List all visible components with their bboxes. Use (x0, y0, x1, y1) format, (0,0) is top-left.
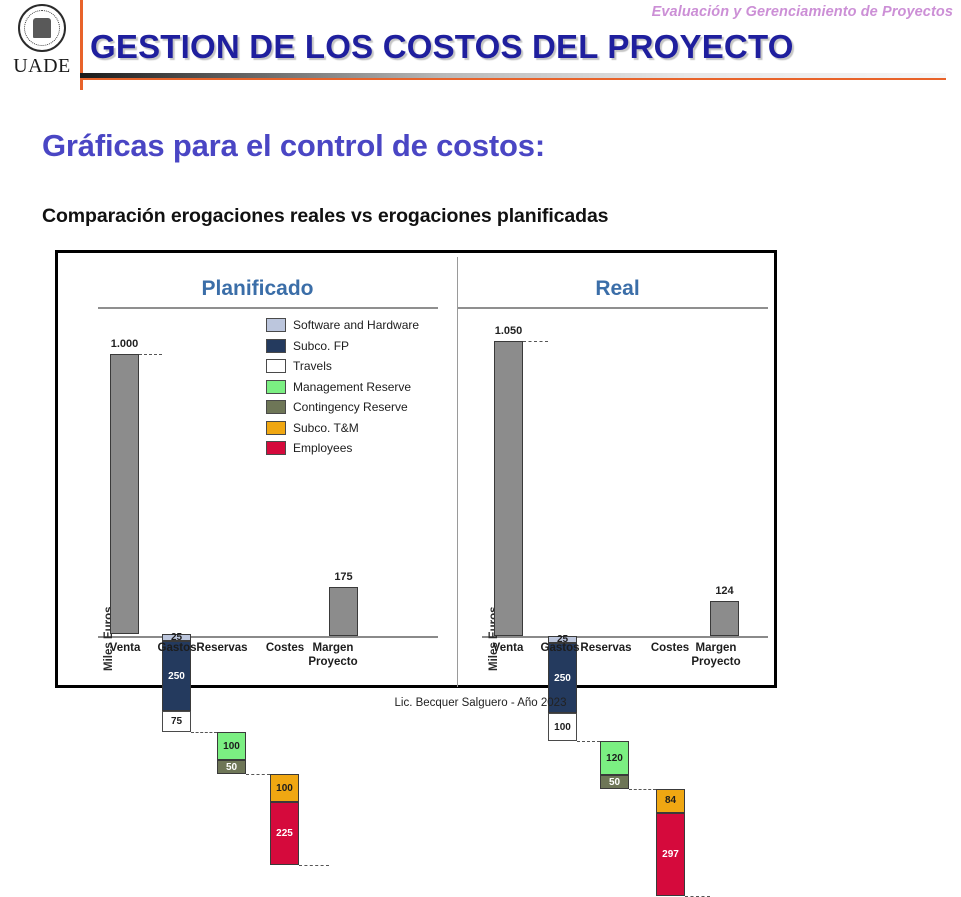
legend-swatch-icon (266, 359, 286, 373)
legend-item: Contingency Reserve (266, 397, 419, 418)
bar-margen-proyecto (710, 601, 739, 636)
bar-segment: 100 (270, 774, 299, 802)
bar-total-label: 124 (700, 585, 749, 597)
bar-segment: 100 (217, 732, 246, 760)
chart-panel-real: RealMiles Euros1.050Venta25250100Gastos1… (458, 253, 777, 685)
legend-swatch-icon (266, 339, 286, 353)
chart-title-rule (98, 307, 438, 309)
bar-venta (110, 354, 139, 634)
uade-logo-text: UADE (13, 55, 71, 78)
waterfall-connector (299, 865, 329, 866)
bar-segment: 75 (162, 711, 191, 732)
bar-segment (110, 354, 139, 634)
chart-title: Real (458, 277, 777, 301)
waterfall-connector (629, 789, 656, 790)
chart-title: Planificado (58, 277, 457, 301)
chart-panel-planificado: PlanificadoMiles Euros1.000Venta2525075G… (58, 253, 457, 685)
header-subtitle: Evaluación y Gerenciamiento de Proyectos (652, 4, 953, 20)
x-axis-line (482, 636, 768, 638)
legend-label: Employees (293, 441, 352, 455)
x-axis-line (98, 636, 438, 638)
x-axis-label: MargenProyecto (303, 641, 363, 669)
legend-label: Subco. T&M (293, 421, 359, 435)
bar-segment: 297 (656, 813, 685, 896)
legend-swatch-icon (266, 421, 286, 435)
legend-item: Travels (266, 356, 419, 377)
bar-segment: 25 (162, 634, 191, 641)
x-axis-label: Reservas (192, 641, 252, 655)
bar-segment: 100 (548, 713, 577, 741)
chart-title-rule (458, 307, 768, 309)
waterfall-connector (523, 341, 548, 342)
slide-subheading: Comparación erogaciones reales vs erogac… (42, 205, 608, 228)
header-accent-rule (80, 78, 946, 80)
bar-costes: 84297 (656, 789, 685, 896)
bar-segment: 120 (600, 741, 629, 775)
bar-margen-proyecto (329, 587, 358, 636)
bar-total-label: 1.050 (484, 325, 533, 337)
page-title: GESTION DE LOS COSTOS DEL PROYECTO (90, 28, 794, 66)
x-axis-label: Reservas (576, 641, 636, 655)
seal-emblem-icon (33, 18, 51, 38)
legend-item: Employees (266, 438, 419, 459)
waterfall-connector (577, 741, 600, 742)
bar-segment: 50 (600, 775, 629, 789)
bar-segment (494, 341, 523, 636)
legend-item: Subco. T&M (266, 418, 419, 439)
legend-label: Management Reserve (293, 380, 411, 394)
slide-footer: Lic. Becquer Salguero - Año 2023 (0, 697, 961, 709)
legend-item: Software and Hardware (266, 315, 419, 336)
waterfall-connector (191, 732, 217, 733)
bar-reservas: 10050 (217, 732, 246, 774)
bar-costes: 100225 (270, 774, 299, 865)
x-axis-label: MargenProyecto (686, 641, 746, 669)
legend-swatch-icon (266, 400, 286, 414)
waterfall-connector (246, 774, 270, 775)
bar-venta (494, 341, 523, 636)
legend-label: Travels (293, 359, 332, 373)
bar-segment (710, 601, 739, 636)
chart-legend: Software and HardwareSubco. FPTravelsMan… (266, 315, 419, 459)
uade-logo: UADE (4, 2, 80, 80)
legend-label: Software and Hardware (293, 318, 419, 332)
legend-item: Management Reserve (266, 377, 419, 398)
legend-item: Subco. FP (266, 336, 419, 357)
legend-swatch-icon (266, 441, 286, 455)
legend-swatch-icon (266, 380, 286, 394)
legend-swatch-icon (266, 318, 286, 332)
waterfall-connector (139, 354, 162, 355)
x-axis-label: Venta (95, 641, 155, 655)
bar-segment (329, 587, 358, 636)
bar-total-label: 1.000 (100, 338, 149, 350)
legend-label: Contingency Reserve (293, 400, 408, 414)
slide-heading: Gráficas para el control de costos: (42, 128, 545, 164)
bar-segment: 84 (656, 789, 685, 813)
university-seal-icon (18, 4, 66, 52)
bar-segment: 50 (217, 760, 246, 774)
bar-total-label: 175 (319, 571, 368, 583)
legend-label: Subco. FP (293, 339, 349, 353)
bar-segment: 225 (270, 802, 299, 865)
x-axis-label: Venta (478, 641, 538, 655)
bar-reservas: 12050 (600, 741, 629, 789)
chart-figure: PlanificadoMiles Euros1.000Venta2525075G… (55, 250, 777, 688)
slide-header: UADE Evaluación y Gerenciamiento de Proy… (0, 0, 961, 92)
